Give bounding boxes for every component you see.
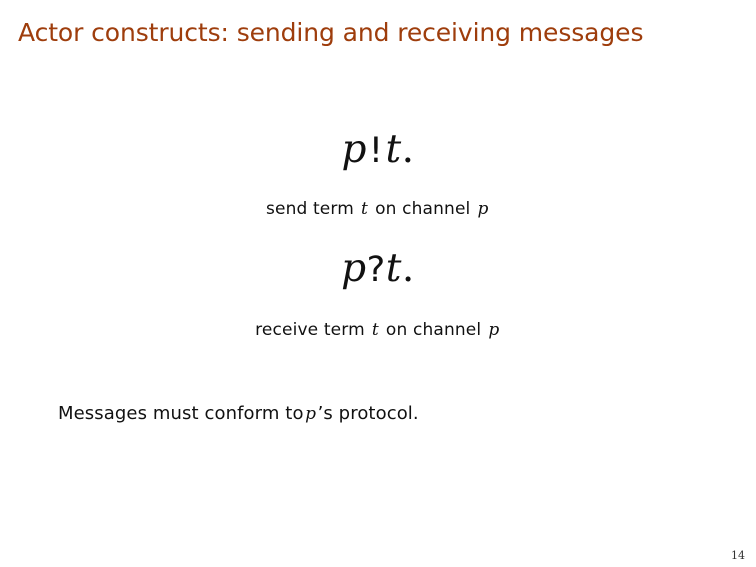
page-title: Actor constructs: sending and receiving … (18, 18, 738, 47)
receive-formula-channel: p (341, 246, 366, 291)
statement-suffix: ’s protocol. (318, 403, 419, 424)
statement-prefix: Messages must conform to (58, 403, 304, 424)
send-caption-channel: p (476, 199, 490, 219)
receive-formula: p?t. (341, 249, 415, 290)
send-formula-term: t (385, 127, 401, 172)
receive-formula-block: p?t. (0, 249, 756, 290)
receive-caption-prefix: receive term (255, 320, 365, 340)
receive-formula-term: t (386, 246, 402, 291)
send-caption-prefix: send term (266, 199, 354, 219)
receive-formula-operator: ? (367, 250, 386, 290)
statement-variable: p (304, 404, 318, 424)
receive-caption-term: t (370, 320, 380, 340)
slide-body: p!t. send term t on channel p p?t. recei… (0, 130, 756, 340)
receive-caption-middle: on channel (386, 320, 481, 340)
receive-caption: receive term t on channel p (0, 320, 756, 340)
send-formula-operator: ! (367, 131, 386, 171)
send-caption-middle: on channel (375, 199, 470, 219)
send-caption: send term t on channel p (0, 199, 756, 219)
protocol-statement: Messages must conform top’s protocol. (58, 403, 419, 424)
send-formula-terminator: . (402, 127, 415, 172)
receive-formula-terminator: . (402, 246, 415, 291)
presentation-slide: Actor constructs: sending and receiving … (0, 0, 756, 567)
spacer (0, 290, 756, 320)
send-formula: p!t. (341, 130, 414, 171)
spacer (0, 219, 756, 249)
send-caption-term: t (360, 199, 370, 219)
page-number: 14 (731, 549, 745, 562)
send-formula-block: p!t. (0, 130, 756, 171)
send-formula-channel: p (341, 127, 366, 172)
receive-caption-channel: p (487, 320, 501, 340)
spacer (0, 171, 756, 199)
